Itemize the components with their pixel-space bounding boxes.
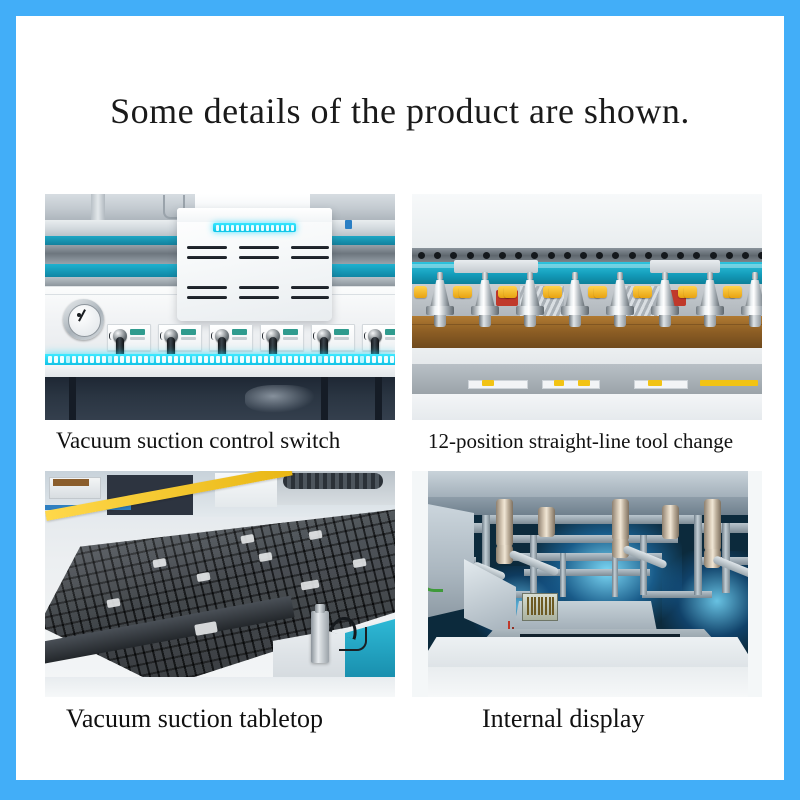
machine-wall bbox=[412, 194, 762, 248]
corrugated-hose bbox=[283, 473, 383, 489]
panel-internal-display[interactable] bbox=[412, 471, 762, 697]
ground-surface bbox=[412, 667, 762, 697]
tool-pull-stud bbox=[437, 272, 443, 280]
vacuum-switch-5[interactable] bbox=[311, 324, 353, 349]
gauge-hub bbox=[77, 313, 81, 317]
gripper-finger bbox=[639, 286, 652, 298]
panel-vacuum-suction-control-switch[interactable] bbox=[45, 194, 395, 420]
switch-label-teal bbox=[283, 329, 298, 335]
tool-holder-7[interactable] bbox=[696, 272, 724, 328]
caption-vacuum-suction-tabletop: Vacuum suction tabletop bbox=[66, 704, 323, 734]
tool-pull-stud bbox=[527, 272, 533, 280]
tool-flange bbox=[561, 306, 589, 315]
vacuum-switch-6[interactable] bbox=[362, 324, 395, 349]
tool-shank bbox=[749, 315, 761, 327]
vertical-pipe bbox=[496, 499, 513, 547]
caption-vacuum-suction-control-switch: Vacuum suction control switch bbox=[56, 428, 340, 454]
tool-shank bbox=[569, 315, 581, 327]
panel-skirt bbox=[45, 365, 395, 377]
control-box-bevel bbox=[177, 208, 332, 222]
label-strip bbox=[468, 380, 528, 389]
switch-label-teal bbox=[130, 329, 145, 335]
tool-flange bbox=[741, 306, 762, 315]
label-strip bbox=[542, 380, 600, 389]
terminal-block bbox=[522, 593, 558, 621]
vertical-pipe bbox=[662, 505, 679, 539]
control-box-vent-slots bbox=[187, 246, 322, 308]
tool-pull-stud bbox=[662, 272, 668, 280]
gripper-finger bbox=[459, 286, 472, 298]
yellow-edge-strip bbox=[700, 380, 758, 386]
vertical-pipe bbox=[704, 499, 721, 551]
product-detail-card: Some details of the product are shown. bbox=[16, 16, 784, 780]
yellow-marker bbox=[648, 380, 662, 386]
switch-label-teal bbox=[181, 329, 196, 335]
gripper-finger bbox=[549, 286, 562, 298]
floor-shadow-area bbox=[45, 377, 395, 420]
pneumatic-cylinder bbox=[311, 611, 329, 663]
led-light-strip bbox=[45, 354, 395, 365]
tool-taper-cone bbox=[745, 280, 762, 308]
tool-flange bbox=[471, 306, 499, 315]
right-white-wall bbox=[748, 471, 762, 697]
tool-holder-2[interactable] bbox=[471, 272, 499, 328]
tool-taper-cone bbox=[700, 280, 720, 308]
gripper-finger bbox=[684, 286, 697, 298]
tool-flange bbox=[606, 306, 634, 315]
tool-taper-cone bbox=[655, 280, 675, 308]
panel-vacuum-suction-tabletop[interactable] bbox=[45, 471, 395, 697]
floor-glint bbox=[245, 385, 315, 413]
vertical-pipe bbox=[538, 507, 555, 537]
tool-pull-stud bbox=[482, 272, 488, 280]
vacuum-switch-4[interactable] bbox=[260, 324, 302, 349]
tool-holder-6[interactable] bbox=[651, 272, 679, 328]
control-box[interactable] bbox=[177, 208, 332, 321]
gripper-finger bbox=[729, 286, 742, 298]
vertical-pipe bbox=[612, 499, 629, 541]
tool-pull-stud bbox=[752, 272, 758, 280]
yellow-marker bbox=[578, 380, 590, 386]
machine-leg bbox=[375, 377, 382, 420]
switch-label-teal bbox=[232, 329, 247, 335]
duct-post bbox=[560, 553, 566, 597]
tool-taper-cone bbox=[430, 280, 450, 308]
tool-shank bbox=[434, 315, 446, 327]
vacuum-switch-2[interactable] bbox=[158, 324, 200, 349]
tool-taper-cone bbox=[610, 280, 630, 308]
vacuum-switch-1[interactable] bbox=[107, 324, 149, 349]
tool-shank bbox=[479, 315, 491, 327]
gripper-finger bbox=[504, 286, 517, 298]
switch-label-teal bbox=[334, 329, 349, 335]
air-hose bbox=[339, 627, 367, 651]
vacuum-switch-3[interactable] bbox=[209, 324, 251, 349]
caption-internal-display: Internal display bbox=[482, 704, 644, 734]
switch-label-grey bbox=[283, 337, 298, 340]
tool-holder-8[interactable] bbox=[741, 272, 762, 328]
gripper-finger bbox=[594, 286, 607, 298]
pressure-gauge bbox=[63, 299, 104, 340]
tool-holder-3[interactable] bbox=[516, 272, 544, 328]
switch-label-grey bbox=[232, 337, 247, 340]
caption-tool-change: 12-position straight-line tool change bbox=[428, 429, 733, 454]
tool-flange bbox=[426, 306, 454, 315]
tool-flange bbox=[516, 306, 544, 315]
tool-taper-cone bbox=[475, 280, 495, 308]
tool-holder-5[interactable] bbox=[606, 272, 634, 328]
yellow-marker bbox=[482, 380, 494, 386]
switch-label-grey bbox=[385, 337, 395, 340]
tool-holder-1[interactable] bbox=[426, 272, 454, 328]
duct-post bbox=[612, 553, 618, 597]
tool-taper-cone bbox=[565, 280, 585, 308]
duct-post bbox=[640, 535, 647, 595]
page-title: Some details of the product are shown. bbox=[16, 90, 784, 132]
floor-area bbox=[412, 394, 762, 420]
duct-beam bbox=[498, 535, 678, 543]
switch-label-teal bbox=[385, 329, 395, 335]
tool-flange bbox=[696, 306, 724, 315]
tool-shank bbox=[659, 315, 671, 327]
vertical-post bbox=[91, 194, 105, 220]
floor-area bbox=[45, 677, 395, 697]
tool-shank bbox=[704, 315, 716, 327]
tool-shank bbox=[524, 315, 536, 327]
tool-taper-cone bbox=[520, 280, 540, 308]
machine-leg bbox=[321, 377, 328, 420]
switch-label-grey bbox=[181, 337, 196, 340]
yellow-marker bbox=[554, 380, 564, 386]
blue-tag-icon bbox=[345, 220, 352, 229]
panel-tool-change[interactable] bbox=[412, 194, 762, 420]
machine-leg bbox=[69, 377, 76, 420]
tool-pull-stud bbox=[572, 272, 578, 280]
left-white-wall bbox=[412, 471, 428, 697]
tool-holder-4[interactable] bbox=[561, 272, 589, 328]
switch-label-grey bbox=[334, 337, 349, 340]
duct-post bbox=[694, 515, 702, 595]
cylinder-cap bbox=[315, 604, 325, 613]
brown-board bbox=[53, 479, 89, 486]
switch-label-grey bbox=[130, 337, 145, 340]
tool-shank bbox=[614, 315, 626, 327]
tool-pull-stud bbox=[617, 272, 623, 280]
grey-base-panel bbox=[412, 364, 762, 394]
gripper-finger bbox=[414, 286, 427, 298]
tool-flange bbox=[651, 306, 679, 315]
control-box-led-bar bbox=[213, 223, 296, 232]
tool-pull-stud bbox=[707, 272, 713, 280]
